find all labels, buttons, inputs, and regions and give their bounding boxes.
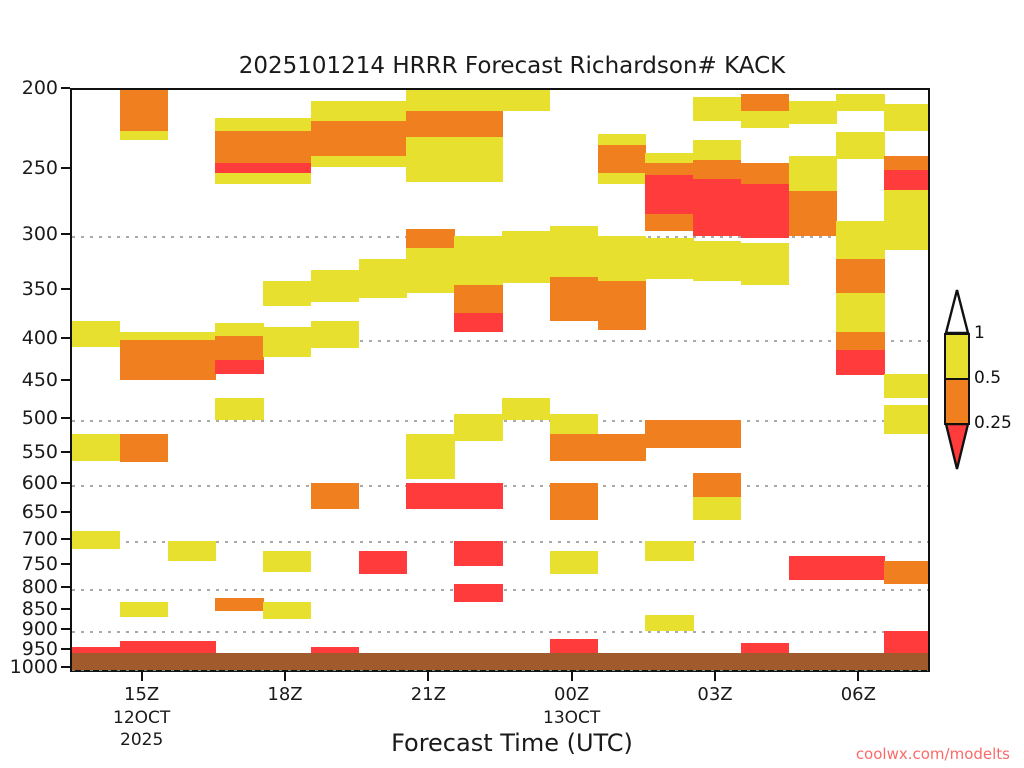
y-axis-tick-mark [61,608,70,610]
colorbar-top-arrow [944,288,970,333]
heatmap-cell [836,556,884,580]
heatmap-cell [311,270,359,301]
heatmap-cell [645,238,693,279]
heatmap-cell [215,131,263,163]
heatmap-cell [550,434,598,461]
heatmap-cell [311,483,359,509]
terrain-band [72,653,928,670]
y-axis-tick-label: 600 [22,472,58,494]
heatmap-cell [454,137,502,181]
heatmap-cell [550,226,598,277]
heatmap-cell [645,153,693,163]
heatmap-cell [215,336,263,361]
heatmap-cell [215,118,263,131]
heatmap-cell [263,281,311,306]
heatmap-cell [263,327,311,357]
heatmap-cell [406,434,454,455]
y-axis-tick-label: 700 [22,528,58,550]
y-axis-tick-mark [61,628,70,630]
heatmap-cell [884,104,928,131]
x-axis-tick-mark [427,672,429,681]
heatmap-cell [311,321,359,348]
heatmap-cell [598,281,646,330]
heatmap-cell [454,313,502,332]
heatmap-cell [598,145,646,173]
heatmap-cell [454,111,502,137]
y-axis-tick-mark [61,511,70,513]
heatmap-cell [741,184,789,238]
plot-area [70,88,930,672]
heatmap-cell [120,131,168,141]
heatmap-cell [550,483,598,520]
y-axis-tick-label: 850 [22,598,58,620]
heatmap-cell [836,132,884,158]
heatmap-cell [836,259,884,293]
y-axis-tick-mark [61,586,70,588]
y-axis-tick-mark [61,666,70,668]
heatmap-cell [120,602,168,617]
heatmap-cells [72,90,928,670]
colorbar-bottom-arrow [944,423,970,471]
heatmap-cell [598,134,646,145]
heatmap-cell [406,90,454,111]
heatmap-cell [406,483,454,509]
heatmap-cell [215,163,263,173]
colorbar-tick-label: 0.25 [974,413,1012,433]
heatmap-cell [454,584,502,602]
y-axis-tick-label: 400 [22,327,58,349]
x-axis-tick-mark [714,672,716,681]
y-axis-tick-label: 300 [22,223,58,245]
heatmap-cell [884,219,928,250]
heatmap-cell [836,293,884,332]
heatmap-cell [645,163,693,175]
y-axis-tick-label: 550 [22,441,58,463]
heatmap-cell [120,332,168,339]
heatmap-cell [454,285,502,313]
x-axis-tick-label: 15Z [124,684,159,705]
x-axis-date-label: 12OCT [113,708,170,728]
chart-title: 2025101214 HRRR Forecast Richardson# KAC… [0,53,1024,79]
heatmap-cell [454,483,502,509]
x-axis-tick-label: 06Z [841,684,876,705]
heatmap-cell [72,434,120,461]
y-axis-tick-label: 350 [22,278,58,300]
heatmap-cell [693,179,741,236]
y-axis: 2002503003504004505005506006507007508008… [0,88,70,672]
heatmap-cell [72,321,120,347]
heatmap-cell [263,118,311,131]
heatmap-cell [598,434,646,461]
heatmap-cell [836,332,884,350]
heatmap-cell [263,131,311,163]
heatmap-cell [836,221,884,259]
x-axis-tick-label: 21Z [411,684,446,705]
heatmap-cell [550,414,598,434]
colorbar-segment [944,378,970,423]
heatmap-cell [550,551,598,574]
heatmap-cell [359,551,407,574]
y-axis-tick-label: 250 [22,157,58,179]
heatmap-cell [120,90,168,131]
x-axis-tick-mark [571,672,573,681]
heatmap-cell [693,497,741,520]
heatmap-cell [836,94,884,111]
heatmap-cell [789,101,837,125]
heatmap-cell [789,191,837,236]
y-axis-tick-mark [61,167,70,169]
y-axis-tick-label: 200 [22,77,58,99]
y-axis-tick-mark [61,233,70,235]
heatmap-cell [454,414,502,441]
heatmap-cell [120,340,168,381]
y-axis-tick-mark [61,482,70,484]
y-axis-tick-label: 450 [22,369,58,391]
heatmap-cell [598,173,646,184]
heatmap-cell [406,229,454,248]
heatmap-cell [168,340,216,381]
heatmap-cell [789,156,837,192]
y-axis-tick-label: 750 [22,553,58,575]
heatmap-cell [693,97,741,121]
heatmap-cell [359,259,407,297]
heatmap-cell [693,241,741,281]
heatmap-cell [884,156,928,171]
x-axis-tick-mark [857,672,859,681]
heatmap-cell [741,94,789,111]
heatmap-cell [311,101,359,121]
y-axis-tick-label: 1000 [10,656,58,678]
heatmap-cell [406,111,454,137]
heatmap-cell [72,531,120,549]
y-axis-tick-mark [61,379,70,381]
x-axis-tick-label: 18Z [267,684,302,705]
heatmap-cell [693,473,741,497]
y-axis-tick-mark [61,288,70,290]
heatmap-cell [359,156,407,168]
heatmap-cell [884,561,928,585]
heatmap-cell [215,598,263,611]
heatmap-cell [502,231,550,283]
heatmap-cell [168,332,216,339]
colorbar-legend: 10.50.25 [944,288,970,468]
heatmap-cell [502,398,550,420]
heatmap-cell [311,156,359,168]
heatmap-cell [645,541,693,561]
colorbar-divider [944,378,970,380]
heatmap-cell [120,434,168,462]
heatmap-cell [454,541,502,566]
heatmap-cell [215,323,263,336]
y-axis-tick-mark [61,417,70,419]
heatmap-cell [884,405,928,434]
heatmap-cell [884,374,928,398]
heatmap-cell [789,556,837,580]
heatmap-cell [741,111,789,128]
y-axis-tick-mark [61,451,70,453]
heatmap-cell [215,173,263,184]
heatmap-cell [502,90,550,111]
heatmap-cell [741,163,789,184]
chart-canvas: 2025101214 HRRR Forecast Richardson# KAC… [0,0,1024,768]
heatmap-cell [263,602,311,619]
heatmap-cell [215,360,263,373]
colorbar-segment [944,333,970,378]
heatmap-cell [693,140,741,160]
x-axis-tick-mark [141,672,143,681]
heatmap-cell [693,420,741,448]
heatmap-cell [693,160,741,179]
x-axis-tick-label: 03Z [697,684,732,705]
y-axis-tick-label: 650 [22,501,58,523]
heatmap-cell [263,163,311,173]
heatmap-cell [359,121,407,156]
credit-text: coolwx.com/modelts [856,745,1010,763]
heatmap-cell [645,615,693,631]
heatmap-cell [645,214,693,231]
heatmap-cell [598,236,646,281]
x-axis-tick-label: 00Z [554,684,589,705]
heatmap-cell [168,541,216,561]
heatmap-cell [454,90,502,111]
y-axis-tick-mark [61,87,70,89]
heatmap-cell [884,170,928,190]
heatmap-cell [263,173,311,184]
y-axis-tick-mark [61,648,70,650]
heatmap-cell [406,455,454,479]
colorbar-tick-label: 1 [974,323,985,343]
y-axis-tick-mark [61,563,70,565]
heatmap-cell [550,277,598,321]
colorbar-tick-label: 0.5 [974,368,1001,388]
heatmap-cell [263,551,311,571]
heatmap-cell [406,248,454,294]
heatmap-cell [359,101,407,121]
x-axis-date-label: 13OCT [543,708,600,728]
y-axis-tick-label: 500 [22,407,58,429]
heatmap-cell [454,236,502,285]
y-axis-tick-label: 800 [22,576,58,598]
colorbar-divider [944,333,970,335]
x-axis-tick-mark [284,672,286,681]
heatmap-cell [741,243,789,285]
heatmap-cell [645,420,693,448]
heatmap-cell [836,350,884,375]
y-axis-tick-mark [61,337,70,339]
heatmap-cell [406,137,454,181]
heatmap-cell [645,175,693,214]
heatmap-cell [311,121,359,156]
y-axis-tick-mark [61,538,70,540]
heatmap-cell [215,398,263,420]
